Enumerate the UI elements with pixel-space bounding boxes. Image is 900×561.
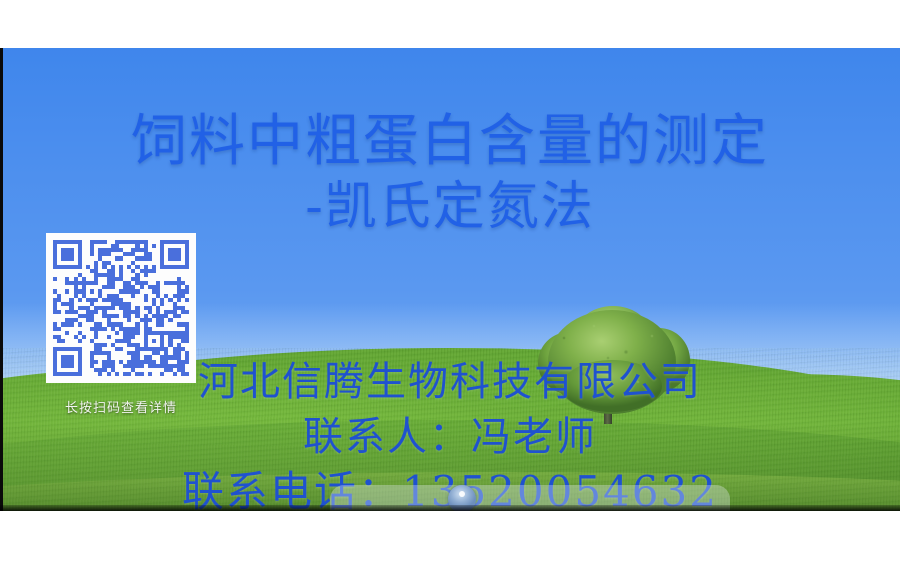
bottom-edge-strip bbox=[0, 505, 900, 511]
qr-code-caption: 长按扫码查看详情 bbox=[46, 397, 196, 416]
screenshot-root: 饲料中粗蛋白含量的测定 -凯氏定氮法 河北信腾生物科技有限公司 联系人：冯老师 … bbox=[0, 0, 900, 561]
qr-code-image bbox=[53, 240, 189, 376]
tree-foliage-detail bbox=[542, 308, 682, 416]
video-poster-frame[interactable]: 饲料中粗蛋白含量的测定 -凯氏定氮法 河北信腾生物科技有限公司 联系人：冯老师 … bbox=[0, 48, 900, 511]
tree-illustration bbox=[532, 306, 692, 424]
qr-code-card[interactable] bbox=[46, 233, 196, 383]
qr-code-block[interactable]: 长按扫码查看详情 bbox=[46, 233, 198, 416]
left-edge-strip bbox=[0, 48, 3, 511]
